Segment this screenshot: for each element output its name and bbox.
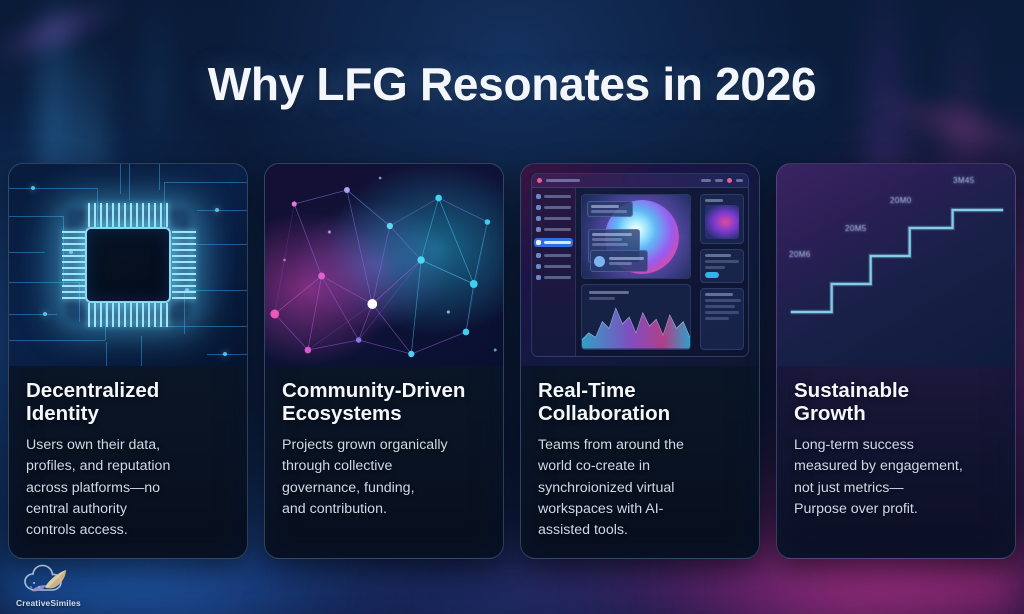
feature-card-decentralized-identity[interactable]: Decentralized Identity Users own their d… <box>8 163 248 559</box>
network-mesh-image <box>265 164 503 366</box>
chip-pins <box>88 203 168 227</box>
hero-visualization-panel <box>581 194 691 279</box>
feature-card-real-time-collaboration[interactable]: Real-Time Collaboration Teams from aroun… <box>520 163 760 559</box>
settings-panel <box>700 249 744 283</box>
card-body: Sustainable Growth Long-term success mea… <box>777 366 1015 520</box>
sidebar-item <box>536 216 571 221</box>
card-title: Real-Time Collaboration <box>538 380 742 426</box>
sidebar-item <box>536 253 571 258</box>
card-body: Real-Time Collaboration Teams from aroun… <box>521 366 759 541</box>
area-chart <box>582 299 690 349</box>
window-dot-icon <box>537 178 542 183</box>
growth-chart-image: 20M6 20M5 20M0 3M45 <box>777 164 1015 366</box>
network-graph <box>265 164 503 366</box>
area-chart-panel <box>581 284 691 350</box>
chart-annotation: 20M0 <box>890 196 912 205</box>
chip-pins <box>88 303 168 327</box>
card-description: Teams from around the world co-create in… <box>538 435 742 541</box>
feature-card-sustainable-growth[interactable]: 20M6 20M5 20M0 3M45 Sustainable Growth L… <box>776 163 1016 559</box>
sidebar-item <box>536 194 571 199</box>
chip-pins <box>172 231 196 299</box>
card-title: Community-Driven Ecosystems <box>282 380 486 426</box>
chart-annotation: 20M5 <box>845 224 867 233</box>
media-preview-panel <box>700 194 744 244</box>
dashboard-titlebar <box>532 174 748 188</box>
card-description: Projects grown organically through colle… <box>282 435 486 520</box>
dashboard-mockup-image <box>521 164 759 366</box>
list-panel <box>700 288 744 350</box>
growth-step-line-chart <box>777 164 1015 366</box>
watermark-brand: CreativeSimiles <box>16 598 81 608</box>
sidebar-item <box>536 205 571 210</box>
card-description: Long-term success measured by engagement… <box>794 435 998 520</box>
circuit-chip-image <box>9 164 247 366</box>
page-title: Why LFG Resonates in 2026 <box>0 57 1024 111</box>
dashboard-window <box>531 173 749 357</box>
sidebar-item <box>536 275 571 280</box>
cpu-chip-icon <box>85 227 171 303</box>
feature-card-grid: Decentralized Identity Users own their d… <box>8 163 1016 559</box>
feature-card-community-driven-ecosystems[interactable]: Community-Driven Ecosystems Projects gro… <box>264 163 504 559</box>
card-body: Community-Driven Ecosystems Projects gro… <box>265 366 503 520</box>
sidebar-item <box>536 264 571 269</box>
bottom-color-band <box>0 550 1024 614</box>
card-description: Users own their data, profiles, and repu… <box>26 435 230 541</box>
chip-pins <box>62 231 86 299</box>
chart-annotation: 20M6 <box>789 250 811 259</box>
slide-canvas: Why LFG Resonates in 2026 <box>0 0 1024 614</box>
sidebar-item-active <box>534 238 573 247</box>
preview-thumbnail <box>705 205 739 239</box>
card-title: Sustainable Growth <box>794 380 998 426</box>
sidebar-item <box>536 227 571 232</box>
card-body: Decentralized Identity Users own their d… <box>9 366 247 541</box>
dashboard-right-rail <box>696 188 748 356</box>
cloud-feather-logo-icon <box>22 563 74 597</box>
toggle-switch[interactable] <box>705 272 719 278</box>
card-title: Decentralized Identity <box>26 380 230 426</box>
chart-annotation: 3M45 <box>953 176 975 185</box>
watermark: CreativeSimiles <box>16 563 81 608</box>
dashboard-sidebar[interactable] <box>532 188 576 356</box>
